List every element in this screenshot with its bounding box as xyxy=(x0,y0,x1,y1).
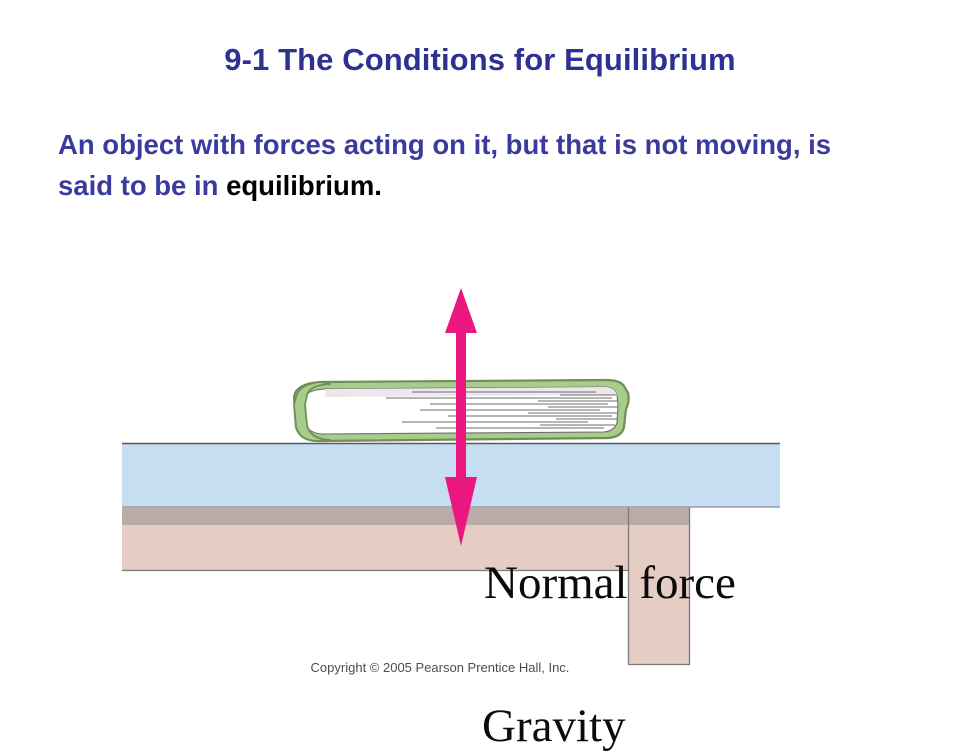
slide-canvas: 9-1 The Conditions for Equilibrium An ob… xyxy=(0,0,960,720)
body-text-lead: An object with forces acting on it, but … xyxy=(58,129,831,201)
copyright-notice: Copyright © 2005 Pearson Prentice Hall, … xyxy=(0,660,880,675)
slide-body-text: An object with forces acting on it, but … xyxy=(58,124,888,206)
body-text-emphasis: equilibrium. xyxy=(226,170,382,201)
table-group xyxy=(122,443,780,665)
page-title: 9-1 The Conditions for Equilibrium xyxy=(0,42,960,78)
physics-figure: Normal force Gravity xyxy=(0,255,960,720)
gravity-label: Gravity xyxy=(482,699,626,753)
table-apron-shadow xyxy=(122,507,690,525)
normal-force-label: Normal force xyxy=(484,556,736,610)
figure-illustration xyxy=(0,255,960,720)
table-leg-shadow xyxy=(628,507,690,525)
